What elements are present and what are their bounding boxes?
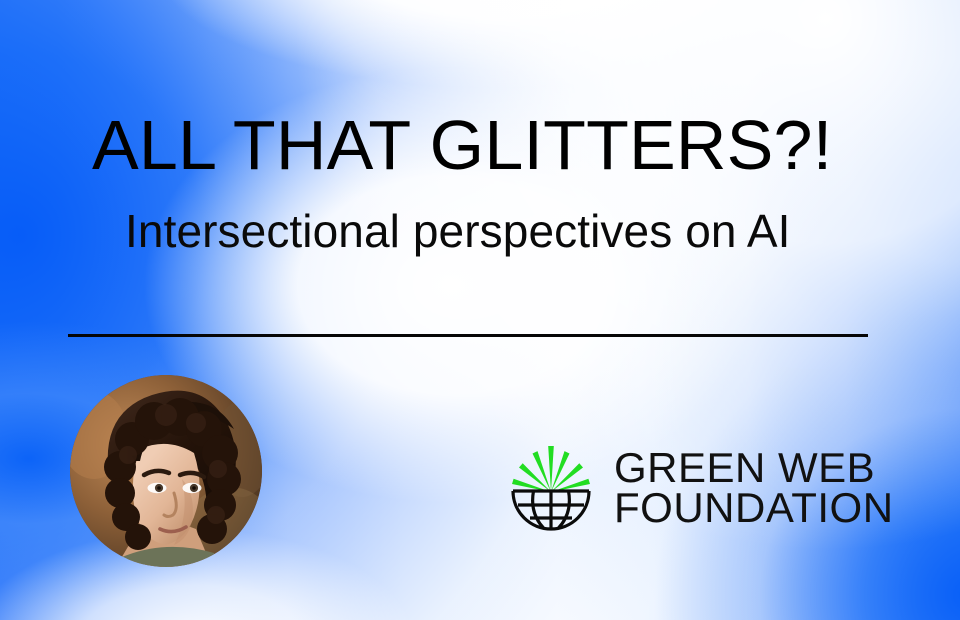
globe-sunburst-icon	[508, 440, 596, 536]
green-web-foundation-logo: GREEN WEB FOUNDATION	[508, 440, 894, 536]
speaker-portrait-avatar	[70, 375, 262, 567]
logo-wordmark-line-2: FOUNDATION	[614, 488, 894, 528]
logo-wordmark-line-1: GREEN WEB	[614, 448, 894, 488]
slide-subtitle: Intersectional perspectives on AI	[125, 208, 791, 254]
title-slide: ALL THAT GLITTERS?! Intersectional persp…	[0, 0, 960, 620]
slide-title: ALL THAT GLITTERS?!	[92, 110, 832, 180]
globe-sunburst-glyph	[508, 440, 596, 536]
sunburst-rays	[512, 446, 590, 492]
horizontal-divider	[68, 334, 868, 337]
logo-wordmark: GREEN WEB FOUNDATION	[614, 448, 894, 529]
portrait-illustration	[70, 375, 262, 567]
hemisphere-wireframe	[513, 491, 589, 529]
